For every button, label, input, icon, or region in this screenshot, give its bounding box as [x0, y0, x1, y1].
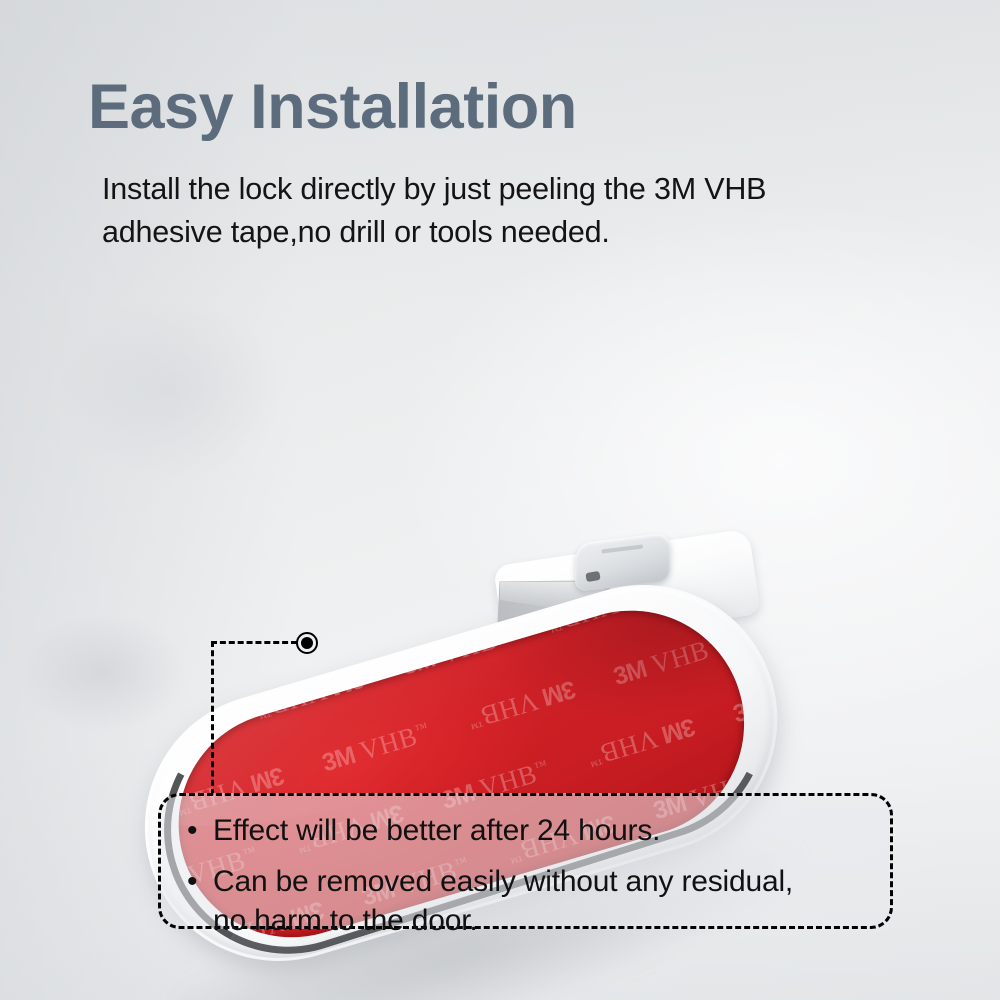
callout-item: • Effect will be better after 24 hours.: [187, 811, 874, 850]
subtitle-line-1: Install the lock directly by just peelin…: [102, 168, 902, 211]
bullet-icon: •: [187, 862, 213, 901]
callout-list: • Effect will be better after 24 hours. …: [187, 811, 874, 940]
leader-line-horizontal: [211, 641, 297, 644]
infographic-page: Easy Installation Install the lock direc…: [0, 0, 1000, 1000]
callout-item-line: Can be removed easily without any residu…: [213, 862, 874, 901]
leader-point-dot: [301, 637, 313, 649]
product-photo: 3M VHB™3M VHB™3M VHB™3M VHB™3M VHB™3M VH…: [0, 250, 1000, 780]
adhesive-watermark: 3M VHB™: [464, 674, 579, 735]
callout-item: • Can be removed easily without any resi…: [187, 862, 874, 940]
callout-item-text: Effect will be better after 24 hours.: [213, 811, 874, 850]
leader-line-vertical: [211, 641, 214, 795]
page-subtitle: Install the lock directly by just peelin…: [102, 168, 902, 253]
callout-item-line: Effect will be better after 24 hours.: [213, 811, 874, 850]
adhesive-watermark: 3M VHB™: [318, 717, 433, 778]
adhesive-watermark: 3M VHB™: [755, 587, 771, 648]
adhesive-watermark: 3M VHB™: [610, 631, 725, 692]
page-title: Easy Installation: [88, 76, 577, 139]
bullet-icon: •: [187, 811, 213, 850]
callout-item-text: Can be removed easily without any residu…: [213, 862, 874, 940]
adhesive-watermark: 3M VHB™: [584, 711, 699, 772]
callout-box: • Effect will be better after 24 hours. …: [158, 793, 893, 929]
callout-item-line: no harm to the door.: [213, 901, 874, 940]
subtitle-line-2: adhesive tape,no drill or tools needed.: [102, 211, 902, 254]
adhesive-watermark: 3M VHB™: [690, 583, 772, 595]
